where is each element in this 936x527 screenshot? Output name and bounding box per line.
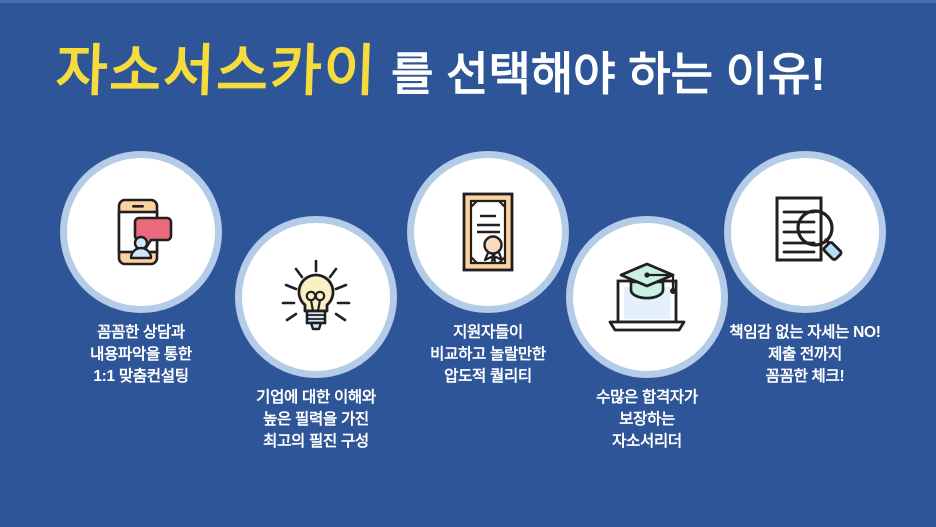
feature-item-responsibility: 책임감 없는 자세는 NO! 제출 전까지 꼼꼼한 체크! <box>711 158 899 388</box>
feature-icon-circle <box>414 158 562 306</box>
caption-line: 보장하는 <box>553 409 741 431</box>
top-divider <box>0 0 936 3</box>
headline-subtitle: 를 선택해야 하는 이유! <box>391 51 826 97</box>
caption-line: 높은 필력을 가진 <box>222 409 410 431</box>
certificate-icon <box>442 186 534 278</box>
caption-line: 꼼꼼한 상담과 <box>47 322 235 344</box>
caption-line: 최고의 필진 구성 <box>222 431 410 453</box>
feature-list: 꼼꼼한 상담과 내용파악을 통한 1:1 맞춤컨설팅 <box>0 150 936 527</box>
smartphone-chat-icon <box>95 186 187 278</box>
feature-caption: 수많은 합격자가 보장하는 자소서리더 <box>553 387 741 453</box>
caption-line: 제출 전까지 <box>711 344 899 366</box>
caption-line: 자소서리더 <box>553 431 741 453</box>
feature-item-consulting: 꼼꼼한 상담과 내용파악을 통한 1:1 맞춤컨설팅 <box>47 158 235 388</box>
feature-icon-circle <box>573 223 721 371</box>
caption-line: 1:1 맞춤컨설팅 <box>47 366 235 388</box>
feature-caption: 기업에 대한 이해와 높은 필력을 가진 최고의 필진 구성 <box>222 387 410 453</box>
caption-line: 책임감 없는 자세는 NO! <box>711 322 899 344</box>
feature-item-writers: 기업에 대한 이해와 높은 필력을 가진 최고의 필진 구성 <box>222 223 410 453</box>
laptop-graduation-cap-icon <box>601 251 693 343</box>
feature-caption: 꼼꼼한 상담과 내용파악을 통한 1:1 맞춤컨설팅 <box>47 322 235 388</box>
feature-icon-circle <box>731 158 879 306</box>
brand-name: 자소서스카이 <box>55 44 378 100</box>
page-title: 자소서스카이 를 선택해야 하는 이유! <box>56 44 886 124</box>
feature-icon-circle <box>242 223 390 371</box>
caption-line: 기업에 대한 이해와 <box>222 387 410 409</box>
promo-banner: 자소서스카이 를 선택해야 하는 이유! <box>0 0 936 527</box>
feature-caption: 책임감 없는 자세는 NO! 제출 전까지 꼼꼼한 체크! <box>711 322 899 388</box>
caption-line: 내용파악을 통한 <box>47 344 235 366</box>
caption-line: 수많은 합격자가 <box>553 387 741 409</box>
lightbulb-icon <box>270 251 362 343</box>
document-magnifier-icon <box>759 186 851 278</box>
caption-line: 꼼꼼한 체크! <box>711 366 899 388</box>
feature-icon-circle <box>67 158 215 306</box>
